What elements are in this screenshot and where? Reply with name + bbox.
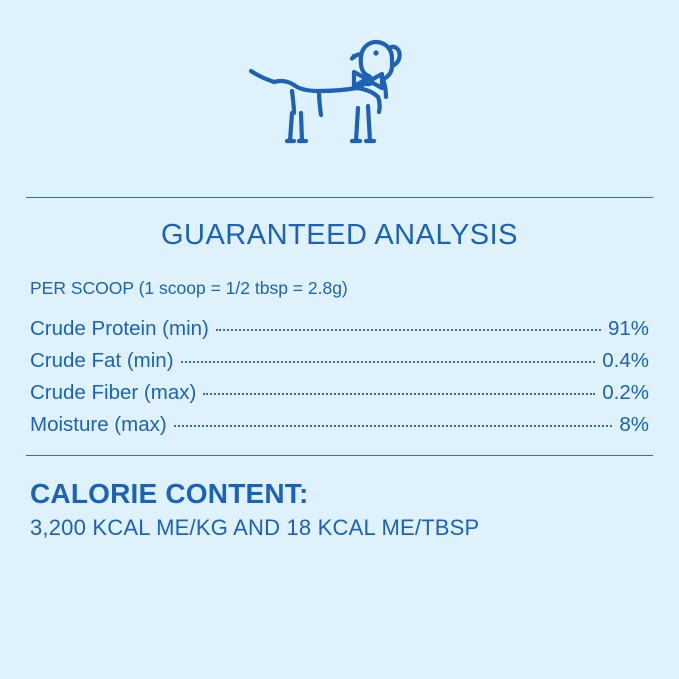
dog-with-bowtie-icon [247,30,432,165]
analysis-label: Crude Fiber (max) [30,381,196,405]
analysis-row: Moisture (max) 8% [30,413,649,437]
analysis-label: Crude Fat (min) [30,349,174,373]
leader-dots [216,329,601,331]
nutrition-panel: GUARANTEED ANALYSIS PER SCOOP (1 scoop =… [0,0,679,679]
analysis-label: Moisture (max) [30,413,167,437]
analysis-value: 8% [619,413,649,437]
analysis-value: 0.2% [602,381,649,405]
leader-dots [174,425,613,427]
dog-illustration-container [26,0,653,195]
calorie-content-value: 3,200 KCAL ME/KG AND 18 KCAL ME/TBSP [30,515,649,541]
serving-note: PER SCOOP (1 scoop = 1/2 tbsp = 2.8g) [30,278,653,299]
leader-dots [203,393,595,395]
page-title: GUARANTEED ANALYSIS [26,219,653,252]
analysis-list: Crude Protein (min) 91% Crude Fat (min) … [26,317,653,437]
divider-top [26,197,653,198]
calorie-content-block: CALORIE CONTENT: 3,200 KCAL ME/KG AND 18… [26,478,653,541]
divider-bottom [26,455,653,456]
analysis-row: Crude Protein (min) 91% [30,317,649,341]
analysis-value: 0.4% [602,349,649,373]
leader-dots [181,361,596,363]
analysis-row: Crude Fat (min) 0.4% [30,349,649,373]
analysis-label: Crude Protein (min) [30,317,209,341]
analysis-row: Crude Fiber (max) 0.2% [30,381,649,405]
calorie-content-title: CALORIE CONTENT: [30,478,649,510]
analysis-value: 91% [608,317,649,341]
